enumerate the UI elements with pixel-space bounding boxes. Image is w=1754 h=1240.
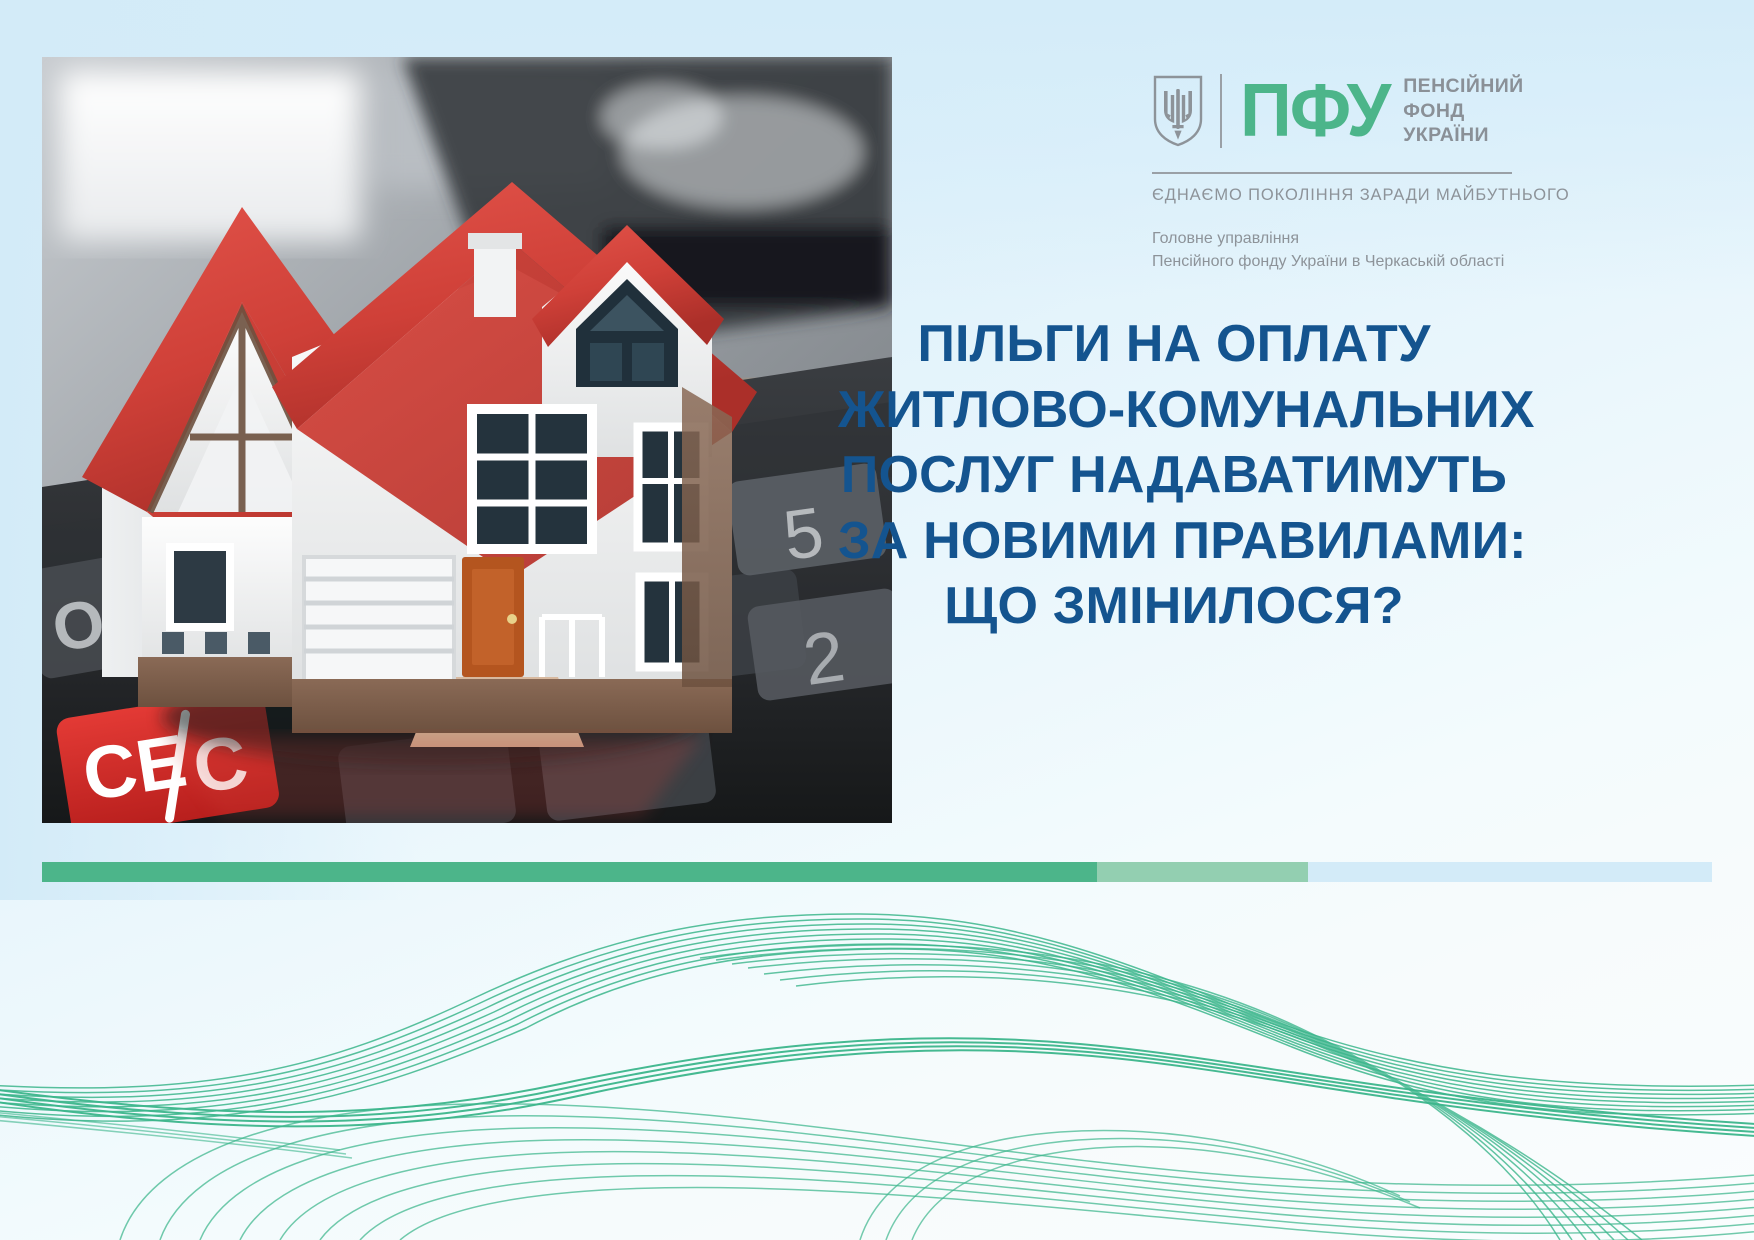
green-wave-lines-icon: [0, 888, 1754, 1240]
logo-divider: [1220, 74, 1222, 148]
headline-line-2: ЖИТЛОВО-КОМУНАЛЬНИХ: [838, 378, 1510, 444]
department-line-2: Пенсійного фонду України в Черкаській об…: [1152, 250, 1552, 273]
accent-bar-segment-green: [42, 862, 1097, 882]
hero-photo: 5 2 CE C OFF: [42, 57, 892, 823]
pfu-name-line-3: УКРАЇНИ: [1403, 123, 1523, 148]
department-line-1: Головне управління: [1152, 227, 1552, 250]
pfu-branding-block: ПФУ ПЕНСІЙНИЙ ФОНД УКРАЇНИ ЄДНАЄМО ПОКОЛ…: [1152, 68, 1552, 273]
accent-bar: [42, 862, 1712, 882]
accent-bar-segment-light-blue: [1308, 862, 1712, 882]
headline-line-5: ЩО ЗМІНИЛОСЯ?: [838, 574, 1510, 640]
accent-bar-segment-light-green: [1097, 862, 1307, 882]
pfu-abbreviation: ПФУ: [1240, 75, 1389, 146]
brand-horizontal-rule: [1152, 172, 1512, 174]
pfu-name-line-1: ПЕНСІЙНИЙ: [1403, 74, 1523, 99]
department-name: Головне управління Пенсійного фонду Укра…: [1152, 227, 1552, 273]
poster-canvas: 5 2 CE C OFF: [0, 0, 1754, 1240]
page-title: ПІЛЬГИ НА ОПЛАТУ ЖИТЛОВО-КОМУНАЛЬНИХ ПОС…: [838, 312, 1510, 640]
brand-slogan: ЄДНАЄМО ПОКОЛІННЯ ЗАРАДИ МАЙБУТНЬОГО: [1152, 186, 1552, 205]
headline-line-1: ПІЛЬГИ НА ОПЛАТУ: [838, 312, 1510, 378]
pfu-logo-row: ПФУ ПЕНСІЙНИЙ ФОНД УКРАЇНИ: [1152, 68, 1552, 154]
pfu-full-name: ПЕНСІЙНИЙ ФОНД УКРАЇНИ: [1403, 74, 1523, 149]
pfu-name-line-2: ФОНД: [1403, 99, 1523, 124]
headline-line-3: ПОСЛУГ НАДАВАТИМУТЬ: [838, 443, 1510, 509]
headline-line-4: ЗА НОВИМИ ПРАВИЛАМИ:: [838, 509, 1510, 575]
wave-decoration: [0, 888, 1754, 1240]
ukraine-trident-icon: [1152, 75, 1204, 147]
house-on-calculator-illustration: 5 2 CE C OFF: [42, 57, 892, 823]
